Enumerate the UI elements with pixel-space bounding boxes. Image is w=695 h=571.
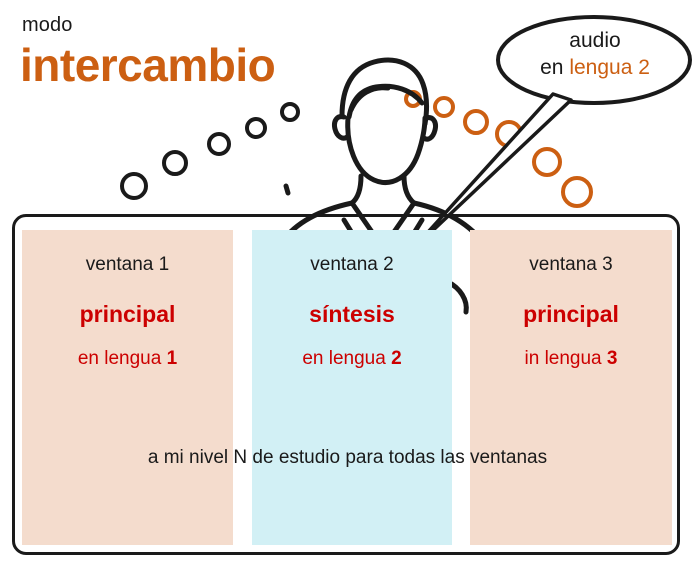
window-1-language-number: 1 xyxy=(167,348,178,369)
orange-bubbles-group xyxy=(406,92,591,206)
speech-bubble-line2-prefix: en xyxy=(540,56,569,79)
page-title: intercambio xyxy=(20,42,275,88)
speech-bubble-line2-highlight: lengua 2 xyxy=(569,56,650,79)
window-2-role: síntesis xyxy=(252,301,452,329)
window-1-language-prefix: en lengua xyxy=(78,348,167,369)
window-panel-2[interactable]: ventana 2 síntesis en lengua 2 xyxy=(252,230,452,545)
speech-bubble-line1: audio xyxy=(515,28,675,55)
window-panel-3[interactable]: ventana 3 principal in lengua 3 xyxy=(470,230,672,545)
board-caption: a mi nivel N de estudio para todas las v… xyxy=(0,447,695,470)
window-2-language-number: 2 xyxy=(391,348,402,369)
window-3-title: ventana 3 xyxy=(470,254,672,277)
window-1-title: ventana 1 xyxy=(22,254,233,277)
speech-bubble-line2: en lengua 2 xyxy=(515,55,675,82)
speech-bubble-text: audio en lengua 2 xyxy=(515,28,675,82)
window-3-role: principal xyxy=(470,301,672,329)
window-2-language-prefix: en lengua xyxy=(302,348,391,369)
window-3-language-number: 3 xyxy=(607,348,618,369)
window-3-language: in lengua 3 xyxy=(470,348,672,371)
kicker-label: modo xyxy=(22,14,72,37)
window-3-language-prefix: in lengua xyxy=(525,348,607,369)
window-2-title: ventana 2 xyxy=(252,254,452,277)
windows-row: ventana 1 principal en lengua 1 ventana … xyxy=(22,230,672,545)
window-2-language: en lengua 2 xyxy=(252,348,452,371)
window-1-language: en lengua 1 xyxy=(22,348,233,371)
slide-root: modo intercambio xyxy=(0,0,695,571)
window-1-role: principal xyxy=(22,301,233,329)
black-bubbles-group xyxy=(122,104,298,198)
window-panel-1[interactable]: ventana 1 principal en lengua 1 xyxy=(22,230,233,545)
